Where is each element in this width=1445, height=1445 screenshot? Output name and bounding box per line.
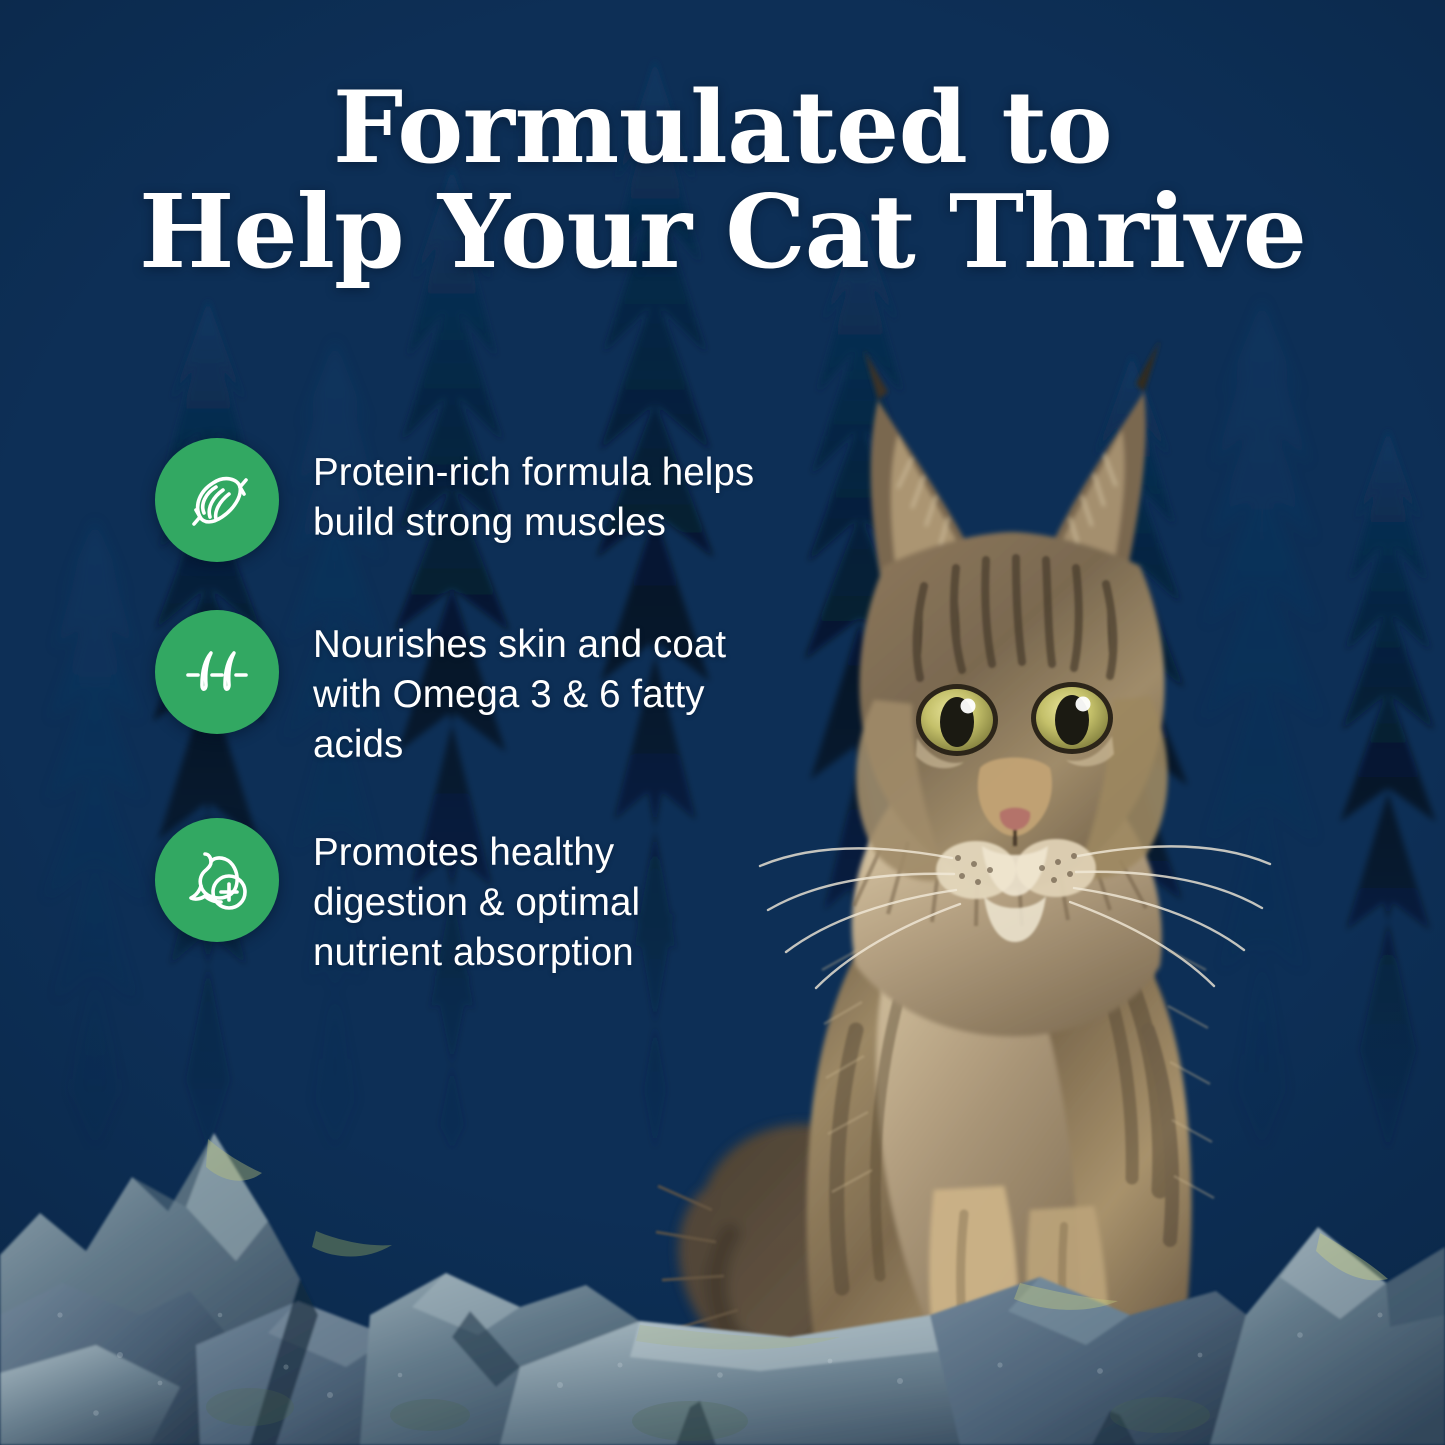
benefit-item-skin-coat: Nourishes skin and coat with Omega 3 & 6… — [155, 610, 775, 770]
benefits-list: Protein-rich formula helps build strong … — [155, 438, 775, 978]
promo-poster: Formulated to Help Your Cat Thrive Prote… — [0, 0, 1445, 1445]
rocky-foreground — [0, 1015, 1445, 1445]
page-title: Formulated to Help Your Cat Thrive — [0, 78, 1445, 284]
benefit-item-protein: Protein-rich formula helps build strong … — [155, 438, 775, 562]
benefit-item-digestion: Promotes healthy digestion & optimal nut… — [155, 818, 775, 978]
benefit-text-skin-coat: Nourishes skin and coat with Omega 3 & 6… — [313, 610, 775, 770]
headline-line-1: Formulated to — [0, 78, 1445, 180]
skin-coat-follicle-icon — [155, 610, 279, 734]
benefit-text-protein: Protein-rich formula helps build strong … — [313, 438, 775, 548]
headline-line-2: Help Your Cat Thrive — [0, 180, 1445, 284]
muscle-icon — [155, 438, 279, 562]
stomach-plus-icon — [155, 818, 279, 942]
benefit-text-digestion: Promotes healthy digestion & optimal nut… — [313, 818, 775, 978]
